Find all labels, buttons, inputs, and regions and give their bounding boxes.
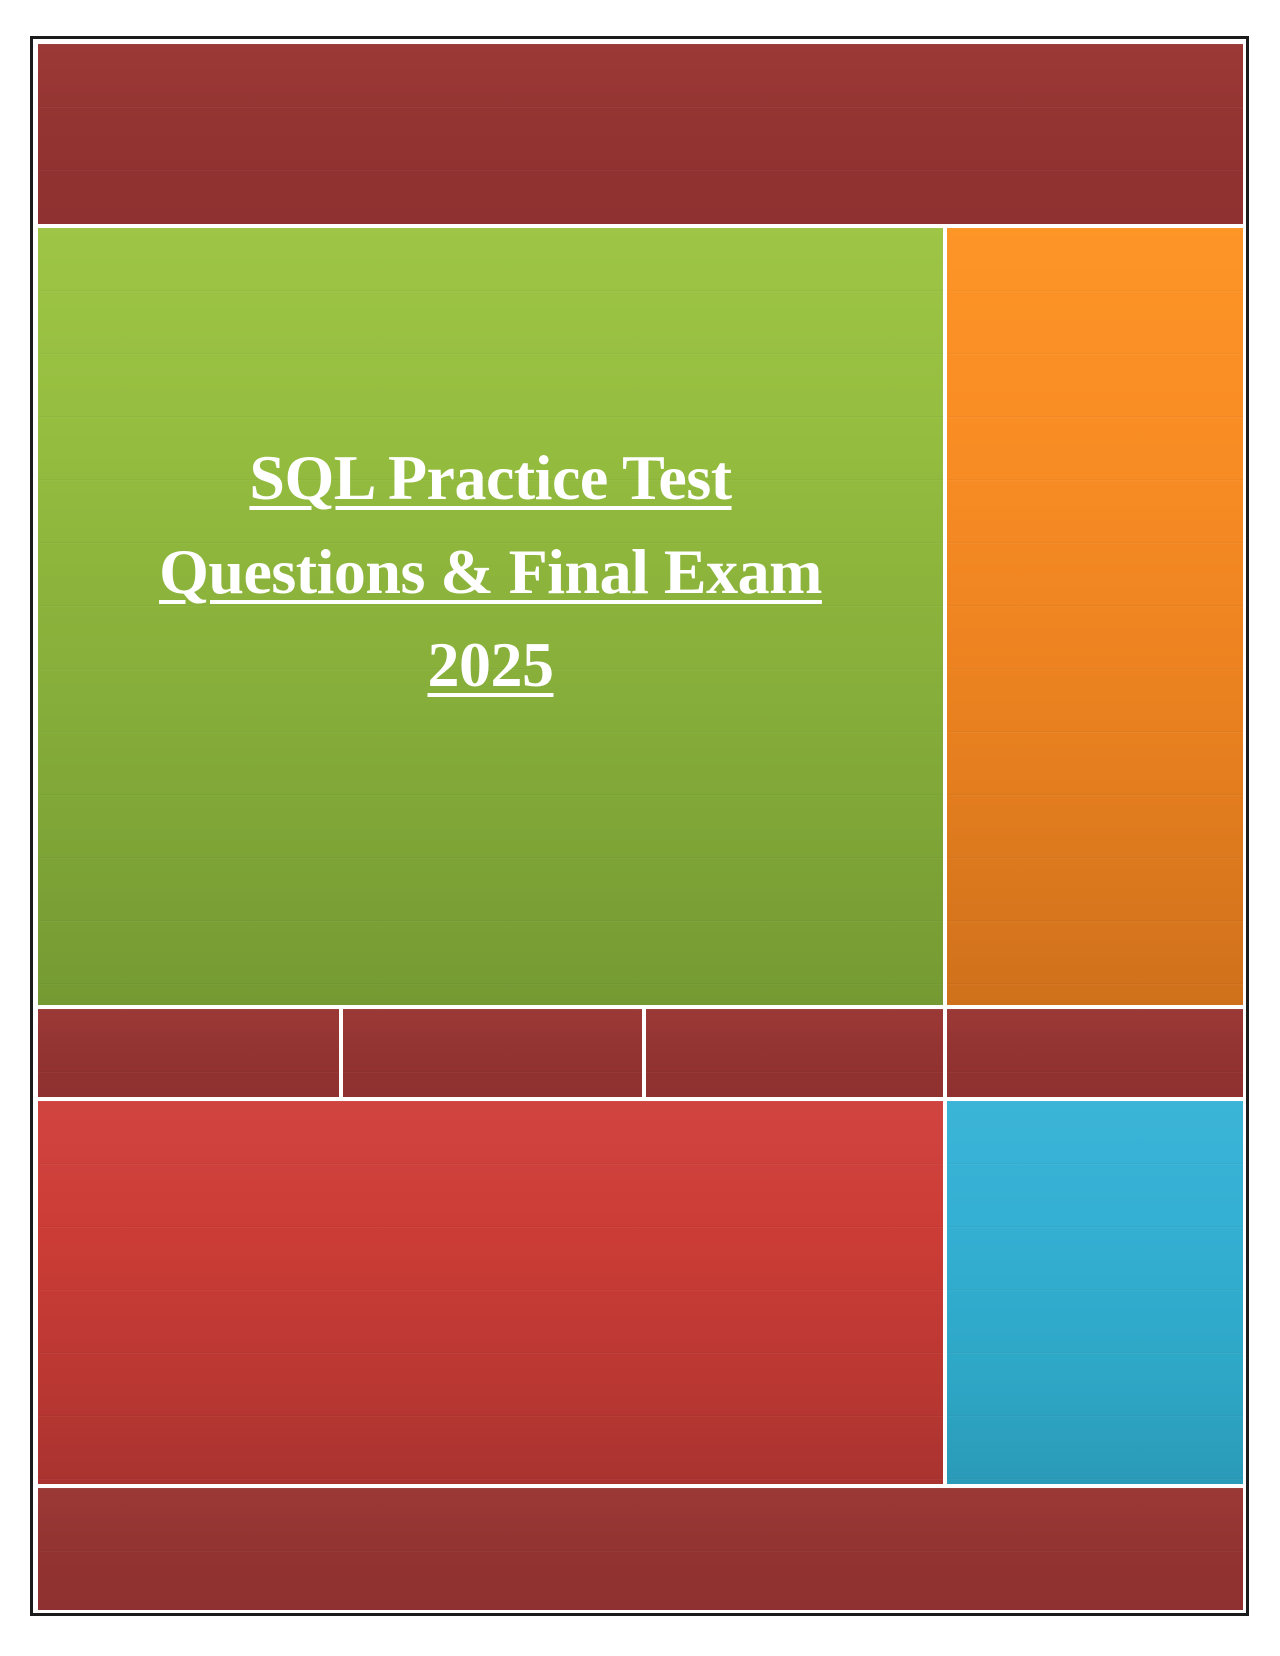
top-banner-block (37, 43, 1244, 225)
lower-red-panel-block (37, 1100, 944, 1485)
bottom-banner-block (37, 1487, 1244, 1611)
page-title: SQL Practice Test Questions & Final Exam… (115, 431, 866, 711)
right-accent-bar-block (946, 227, 1244, 1006)
spacer-cell-4-block (946, 1008, 1244, 1098)
document-frame: SQL Practice Test Questions & Final Exam… (30, 36, 1249, 1616)
lower-blue-panel-block (946, 1100, 1244, 1485)
spacer-cell-3-block (645, 1008, 944, 1098)
cover-page: SQL Practice Test Questions & Final Exam… (0, 0, 1280, 1656)
spacer-cell-1-block (37, 1008, 340, 1098)
title-panel-block: SQL Practice Test Questions & Final Exam… (37, 227, 944, 1006)
spacer-cell-2-block (342, 1008, 643, 1098)
document-canvas: SQL Practice Test Questions & Final Exam… (37, 43, 1242, 1609)
